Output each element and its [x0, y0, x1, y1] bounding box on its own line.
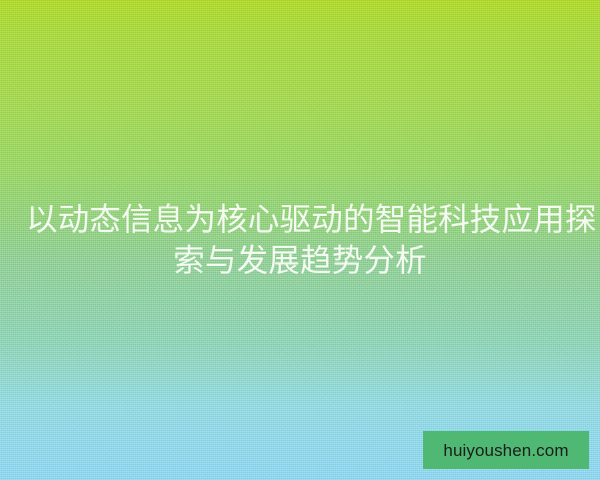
title-line-1: 以动态信息为核心驱动的智能科技应用探 [26, 199, 574, 240]
gradient-banner: 以动态信息为核心驱动的智能科技应用探 索与发展趋势分析 huiyoushen.c… [0, 0, 600, 480]
watermark-label: huiyoushen.com [443, 442, 568, 459]
title-line-2: 索与发展趋势分析 [26, 240, 574, 281]
banner-title: 以动态信息为核心驱动的智能科技应用探 索与发展趋势分析 [0, 199, 600, 281]
watermark-badge[interactable]: huiyoushen.com [423, 431, 589, 469]
